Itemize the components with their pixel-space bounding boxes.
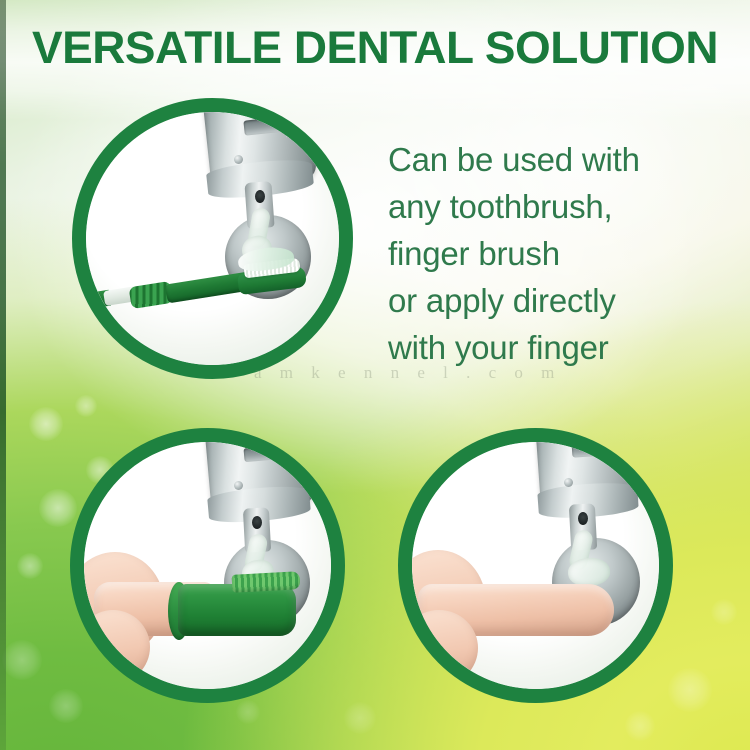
panel-bare-finger-photo: W xyxy=(412,442,659,689)
dispenser-screw xyxy=(234,155,243,164)
panel-bare-finger: W xyxy=(398,428,673,703)
background-left-edge-strip xyxy=(0,0,6,750)
body-copy-line-5: with your finger xyxy=(388,324,718,371)
page-title: VERSATILE DENTAL SOLUTION xyxy=(0,22,750,74)
panel-toothbrush-photo: W xyxy=(86,112,339,365)
finger-brush-bristles xyxy=(232,571,301,593)
poster-canvas: VERSATILE DENTAL SOLUTION Can be used wi… xyxy=(0,0,750,750)
dispenser-screw xyxy=(234,481,243,490)
dispenser-screw xyxy=(564,478,573,487)
body-copy-line-3: finger brush xyxy=(388,230,718,277)
dispenser-orifice xyxy=(252,516,262,529)
panel-finger-brush-photo: W xyxy=(84,442,331,689)
body-copy: Can be used with any toothbrush, finger … xyxy=(388,136,718,371)
body-copy-line-4: or apply directly xyxy=(388,277,718,324)
panel-toothbrush: W xyxy=(72,98,353,379)
dispenser-orifice xyxy=(255,190,265,203)
hand-lower-knuckle xyxy=(84,610,150,684)
panel-finger-brush: W xyxy=(70,428,345,703)
dispenser-orifice xyxy=(578,512,588,525)
body-copy-line-2: any toothbrush, xyxy=(388,183,718,230)
body-copy-line-1: Can be used with xyxy=(388,136,718,183)
